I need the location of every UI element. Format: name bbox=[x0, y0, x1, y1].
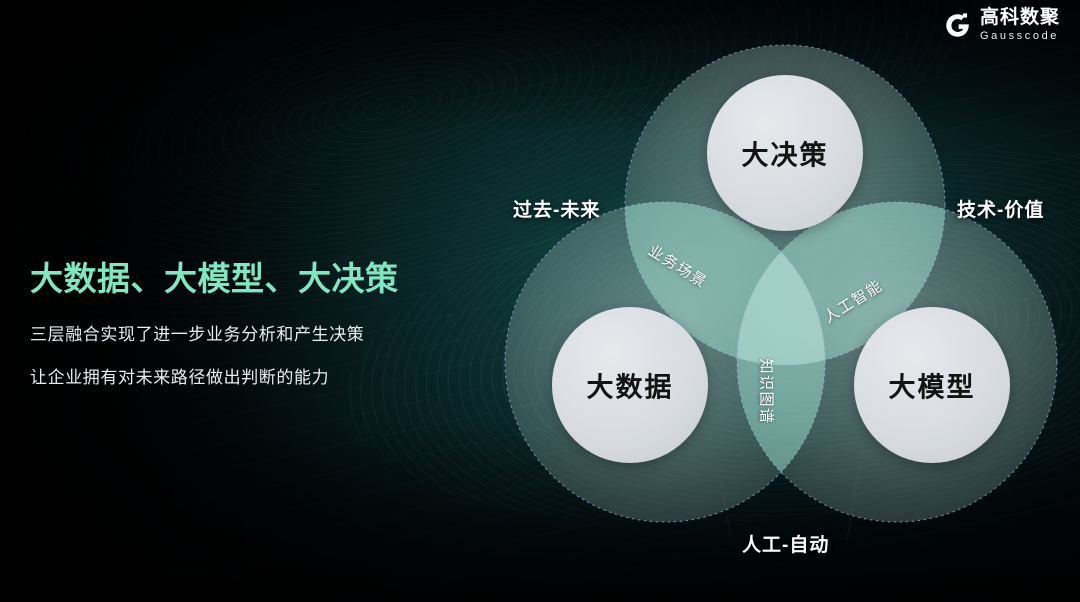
venn-diagram: 大决策 大数据 大模型 业务场景 人工智能 知识图谱 bbox=[495, 20, 1055, 560]
axis-label-past-future: 过去-未来 bbox=[513, 195, 600, 222]
slide-root: 高科数聚 Gausscode 大数据、大模型、大决策 三层融合实现了进一步业务分… bbox=[0, 0, 1080, 602]
brand-name-cn: 高科数聚 bbox=[980, 8, 1060, 27]
venn-intersection-label-knowledge-graph: 知识图谱 bbox=[757, 359, 778, 425]
brand-name-en: Gausscode bbox=[980, 31, 1060, 42]
venn-core-label-model: 大模型 bbox=[889, 366, 976, 405]
brand-logo-text: 高科数聚 Gausscode bbox=[980, 8, 1060, 42]
axis-label-tech-value: 技术-价值 bbox=[957, 195, 1044, 222]
venn-diagram-svg bbox=[495, 20, 1055, 560]
venn-core-label-decision: 大决策 bbox=[742, 134, 829, 173]
subtitle-line-1: 三层融合实现了进一步业务分析和产生决策 bbox=[30, 320, 460, 345]
brand-logo: 高科数聚 Gausscode bbox=[944, 8, 1060, 42]
venn-core-label-bigdata: 大数据 bbox=[587, 366, 674, 405]
headline-block: 大数据、大模型、大决策 三层融合实现了进一步业务分析和产生决策 让企业拥有对未来… bbox=[30, 252, 460, 388]
page-title: 大数据、大模型、大决策 bbox=[30, 252, 460, 300]
axis-label-manual-auto: 人工-自动 bbox=[742, 530, 829, 557]
gausscode-circle-mark-icon bbox=[944, 12, 971, 39]
subtitle-line-2: 让企业拥有对未来路径做出判断的能力 bbox=[30, 363, 460, 388]
